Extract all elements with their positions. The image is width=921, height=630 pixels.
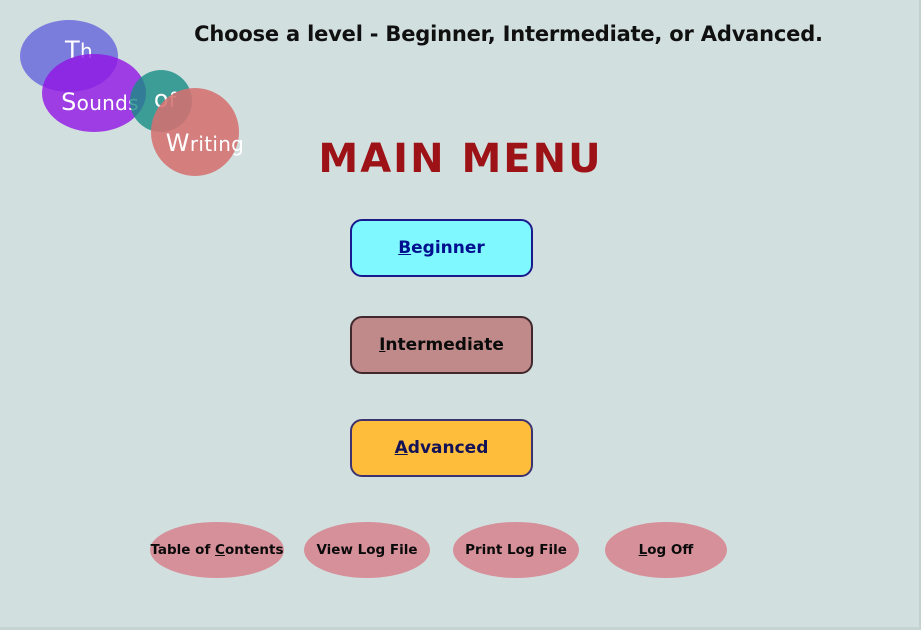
logoff-label-after: og Off: [647, 542, 693, 558]
print-log-file-button[interactable]: Print Log File: [453, 522, 579, 578]
beginner-label-rest: eginner: [411, 238, 485, 258]
toc-label-before: Table of: [150, 542, 215, 558]
log-off-button[interactable]: Log Off: [605, 522, 727, 578]
view-log-file-label: View Log File: [316, 542, 417, 558]
level-prompt-text: Choose a level - Beginner, Intermediate,…: [0, 22, 921, 46]
print-label-before: Print Log File: [465, 542, 567, 558]
advanced-button-label: Advanced: [395, 438, 489, 458]
table-of-contents-label: Table of Contents: [150, 542, 283, 558]
intermediate-button-label: Intermediate: [379, 335, 504, 355]
logo-bubble-sounds-label: Sounds: [61, 90, 139, 114]
toc-label-after: ontents: [225, 542, 284, 558]
beginner-button-label: Beginner: [398, 238, 485, 258]
advanced-button[interactable]: Advanced: [350, 419, 533, 477]
page-title: MAIN MENU: [0, 136, 921, 182]
view-log-file-button[interactable]: View Log File: [304, 522, 430, 578]
table-of-contents-button[interactable]: Table of Contents: [150, 522, 284, 578]
logo-bubble-sounds-cap: S: [61, 88, 77, 116]
beginner-button[interactable]: Beginner: [350, 219, 533, 277]
log-off-label: Log Off: [639, 542, 694, 558]
beginner-accel-key: B: [398, 238, 411, 258]
advanced-label-rest: dvanced: [408, 438, 489, 458]
intermediate-button[interactable]: Intermediate: [350, 316, 533, 374]
logoff-accel-key: L: [639, 542, 648, 558]
view-label-before: View Log File: [316, 542, 417, 558]
toc-accel-key: C: [215, 542, 225, 558]
intermediate-label-rest: ntermediate: [385, 335, 504, 355]
advanced-accel-key: A: [395, 438, 408, 458]
print-log-file-label: Print Log File: [465, 542, 567, 558]
main-menu-screen: Th Sounds of Writing Choose a level - Be…: [0, 0, 921, 630]
